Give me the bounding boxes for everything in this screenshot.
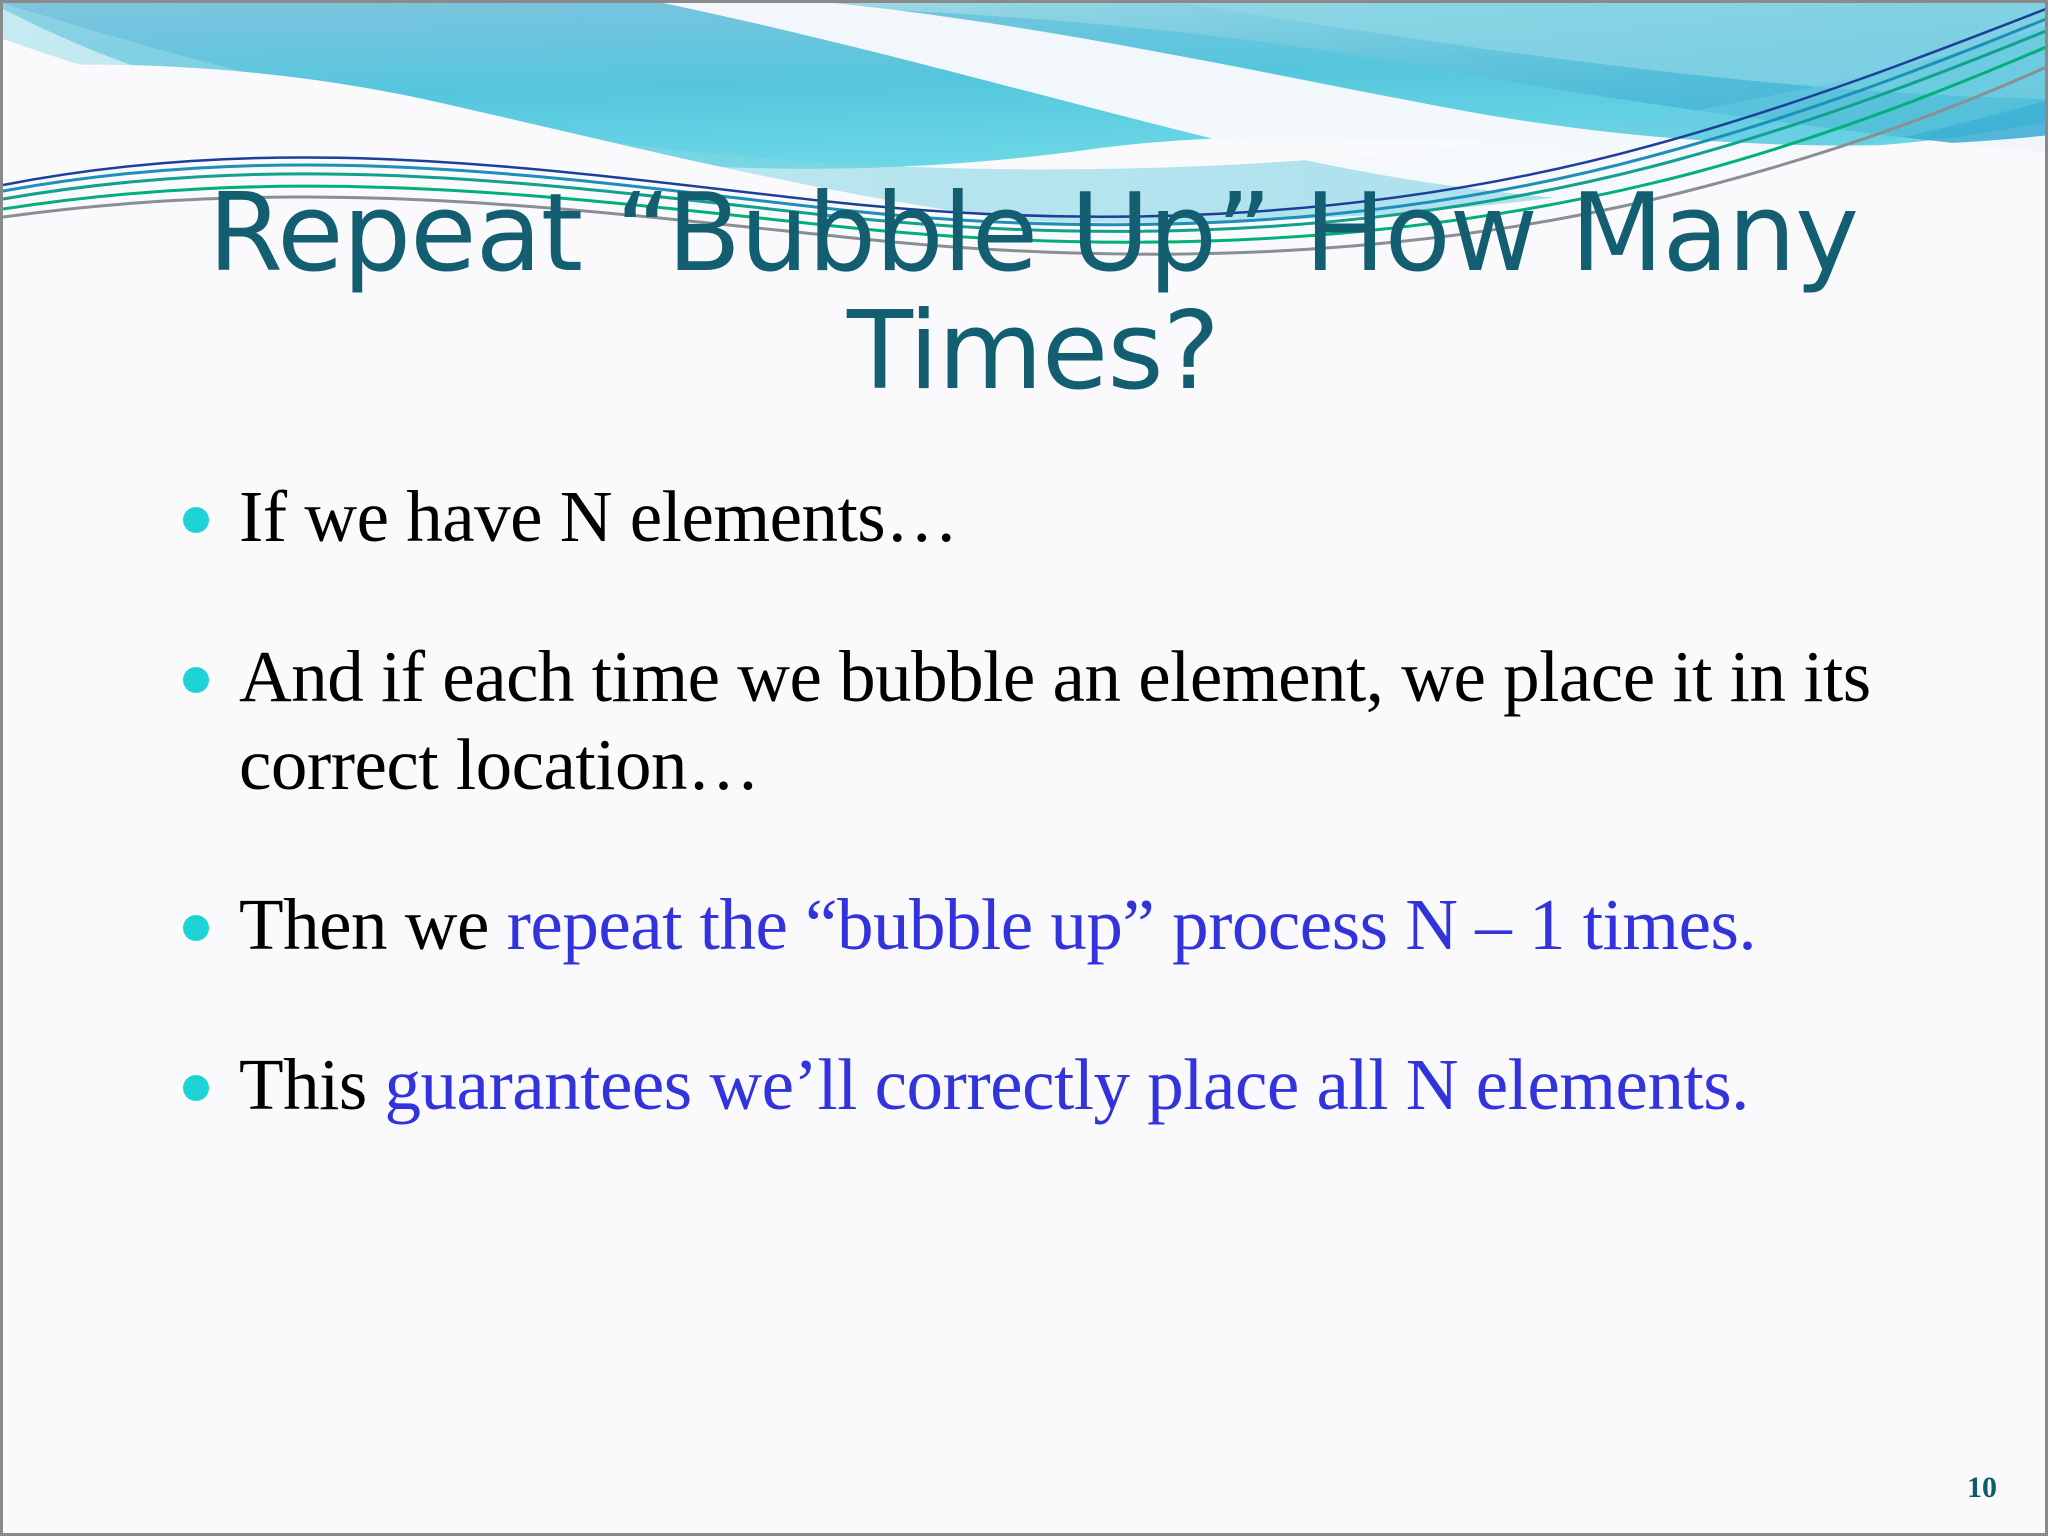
bullet-dot-icon — [183, 507, 209, 533]
slide-number: 10 — [1967, 1471, 1997, 1505]
bullet-plain-text: This — [239, 1044, 385, 1125]
title-line-1: Repeat “Bubble Up” How Many — [163, 175, 1903, 293]
title-line-2: Times? — [163, 293, 1903, 411]
bullet-plain-text: And if each time we bubble an element, w… — [239, 636, 1871, 805]
presentation-slide: Repeat “Bubble Up” How Many Times? If we… — [0, 0, 2048, 1536]
bullet-dot-icon — [183, 667, 209, 693]
bullet-text: If we have N elements… — [239, 476, 958, 557]
bullet-text: Then we repeat the “bubble up” process N… — [239, 884, 1756, 965]
list-item: This guarantees we’ll correctly place al… — [171, 1041, 1941, 1129]
bullet-dot-icon — [183, 915, 209, 941]
bullet-text: And if each time we bubble an element, w… — [239, 636, 1871, 805]
bullet-text: This guarantees we’ll correctly place al… — [239, 1044, 1749, 1125]
bullet-list: If we have N elements… And if each time … — [171, 473, 1941, 1129]
list-item: And if each time we bubble an element, w… — [171, 633, 1941, 809]
bullet-plain-text: If we have N elements… — [239, 476, 958, 557]
bullet-highlight-text: repeat the “bubble up” process N – 1 tim… — [507, 884, 1757, 965]
list-item: Then we repeat the “bubble up” process N… — [171, 881, 1941, 969]
bullet-dot-icon — [183, 1075, 209, 1101]
bullet-highlight-text: guarantees we’ll correctly place all N e… — [385, 1044, 1749, 1125]
list-item: If we have N elements… — [171, 473, 1941, 561]
bullet-plain-text: Then we — [239, 884, 507, 965]
slide-title: Repeat “Bubble Up” How Many Times? — [163, 175, 1903, 411]
